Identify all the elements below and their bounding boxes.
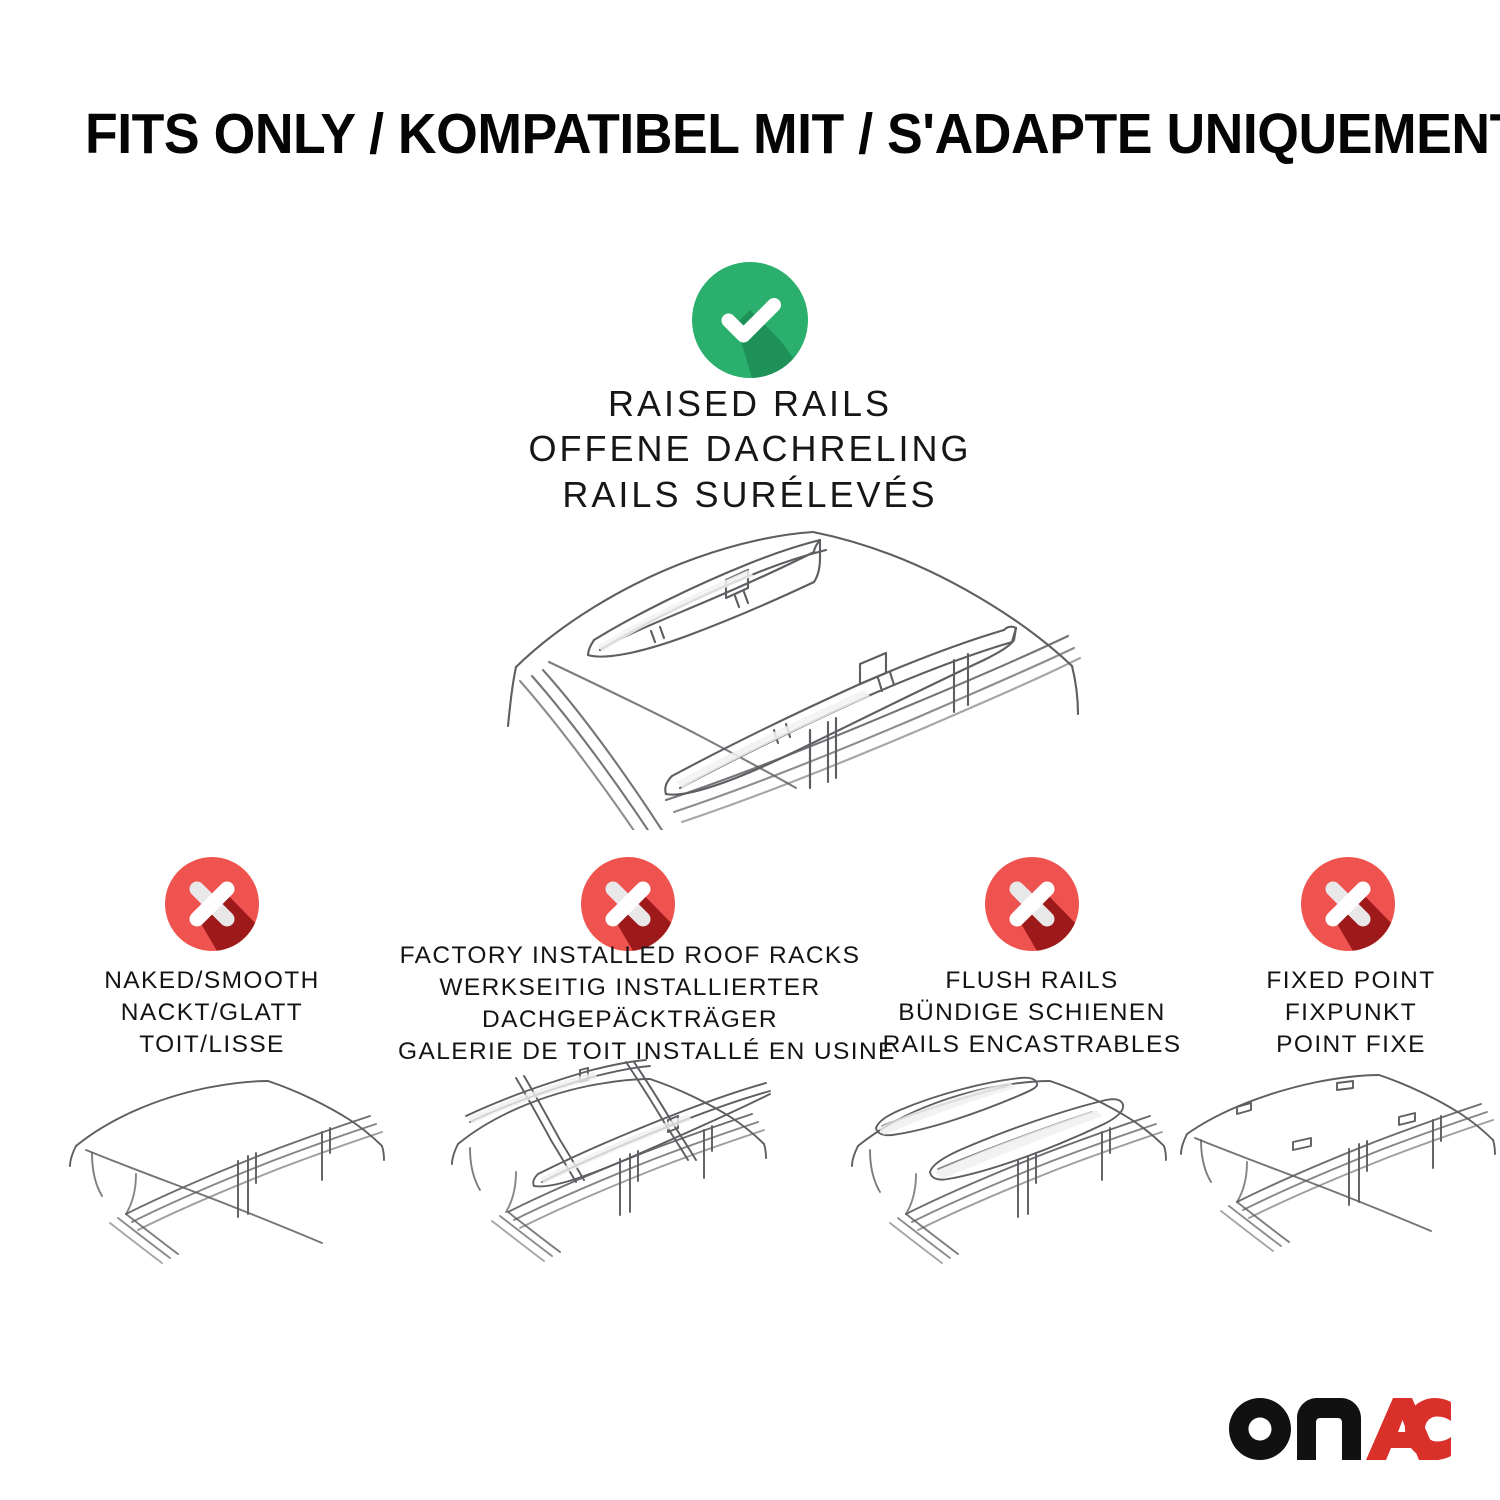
- x-circle-icon-factory-roof-racks: [581, 857, 675, 951]
- incompatible-caption-fixed-point: FIXED POINT FIXPUNKT POINT FIXE: [1206, 965, 1496, 1061]
- check-circle-icon: [692, 262, 808, 378]
- incompatible-caption-flush-rails: FLUSH RAILS BÜNDIGE SCHIENEN RAILS ENCAS…: [862, 965, 1202, 1061]
- naked-smooth-line-2: NACKT/GLATT: [42, 997, 382, 1029]
- flush-rails-line-2: BÜNDIGE SCHIENEN: [862, 997, 1202, 1029]
- car-roof-factory-racks-illustration: [420, 1058, 792, 1292]
- compatible-caption: RAISED RAILS OFFENE DACHRELING RAILS SUR…: [450, 381, 1050, 517]
- fixed-point-line-1: FIXED POINT: [1206, 965, 1496, 997]
- flush-rails-line-1: FLUSH RAILS: [862, 965, 1202, 997]
- flush-rails-line-3: RAILS ENCASTRABLES: [862, 1029, 1202, 1061]
- fitment-infographic: FITS ONLY / KOMPATIBEL MIT / S'ADAPTE UN…: [0, 0, 1500, 1500]
- logo-letter-o: [1229, 1398, 1291, 1460]
- omac-logo: [1229, 1398, 1451, 1460]
- incompatible-caption-factory-roof-racks: FACTORY INSTALLED ROOF RACKS WERKSEITIG …: [398, 940, 862, 1067]
- car-roof-naked-smooth-illustration: [40, 1062, 410, 1292]
- fixed-point-line-3: POINT FIXE: [1206, 1029, 1496, 1061]
- factory-racks-line-1: FACTORY INSTALLED ROOF RACKS: [398, 940, 862, 972]
- factory-racks-line-2: WERKSEITIG INSTALLIERTER: [398, 972, 862, 1004]
- x-circle-icon-naked-smooth: [165, 857, 259, 951]
- x-circle-icon-flush-rails: [985, 857, 1079, 951]
- compatible-line-2: OFFENE DACHRELING: [450, 426, 1050, 471]
- x-circle-icon-fixed-point: [1301, 857, 1395, 951]
- logo-letter-m: [1297, 1398, 1361, 1460]
- page-title: FITS ONLY / KOMPATIBEL MIT / S'ADAPTE UN…: [85, 106, 1345, 163]
- incompatible-caption-naked-smooth: NAKED/SMOOTH NACKT/GLATT TOIT/LISSE: [42, 965, 382, 1061]
- naked-smooth-line-1: NAKED/SMOOTH: [42, 965, 382, 997]
- car-roof-fixed-point-illustration: [1165, 1062, 1500, 1292]
- car-roof-raised-rails-illustration: [408, 500, 1108, 830]
- car-roof-flush-rails-illustration: [820, 1062, 1192, 1292]
- factory-racks-line-3: DACHGEPÄCKTRÄGER: [398, 1004, 862, 1036]
- naked-smooth-line-3: TOIT/LISSE: [42, 1029, 382, 1061]
- compatible-line-1: RAISED RAILS: [450, 381, 1050, 426]
- fixed-point-line-2: FIXPUNKT: [1206, 997, 1496, 1029]
